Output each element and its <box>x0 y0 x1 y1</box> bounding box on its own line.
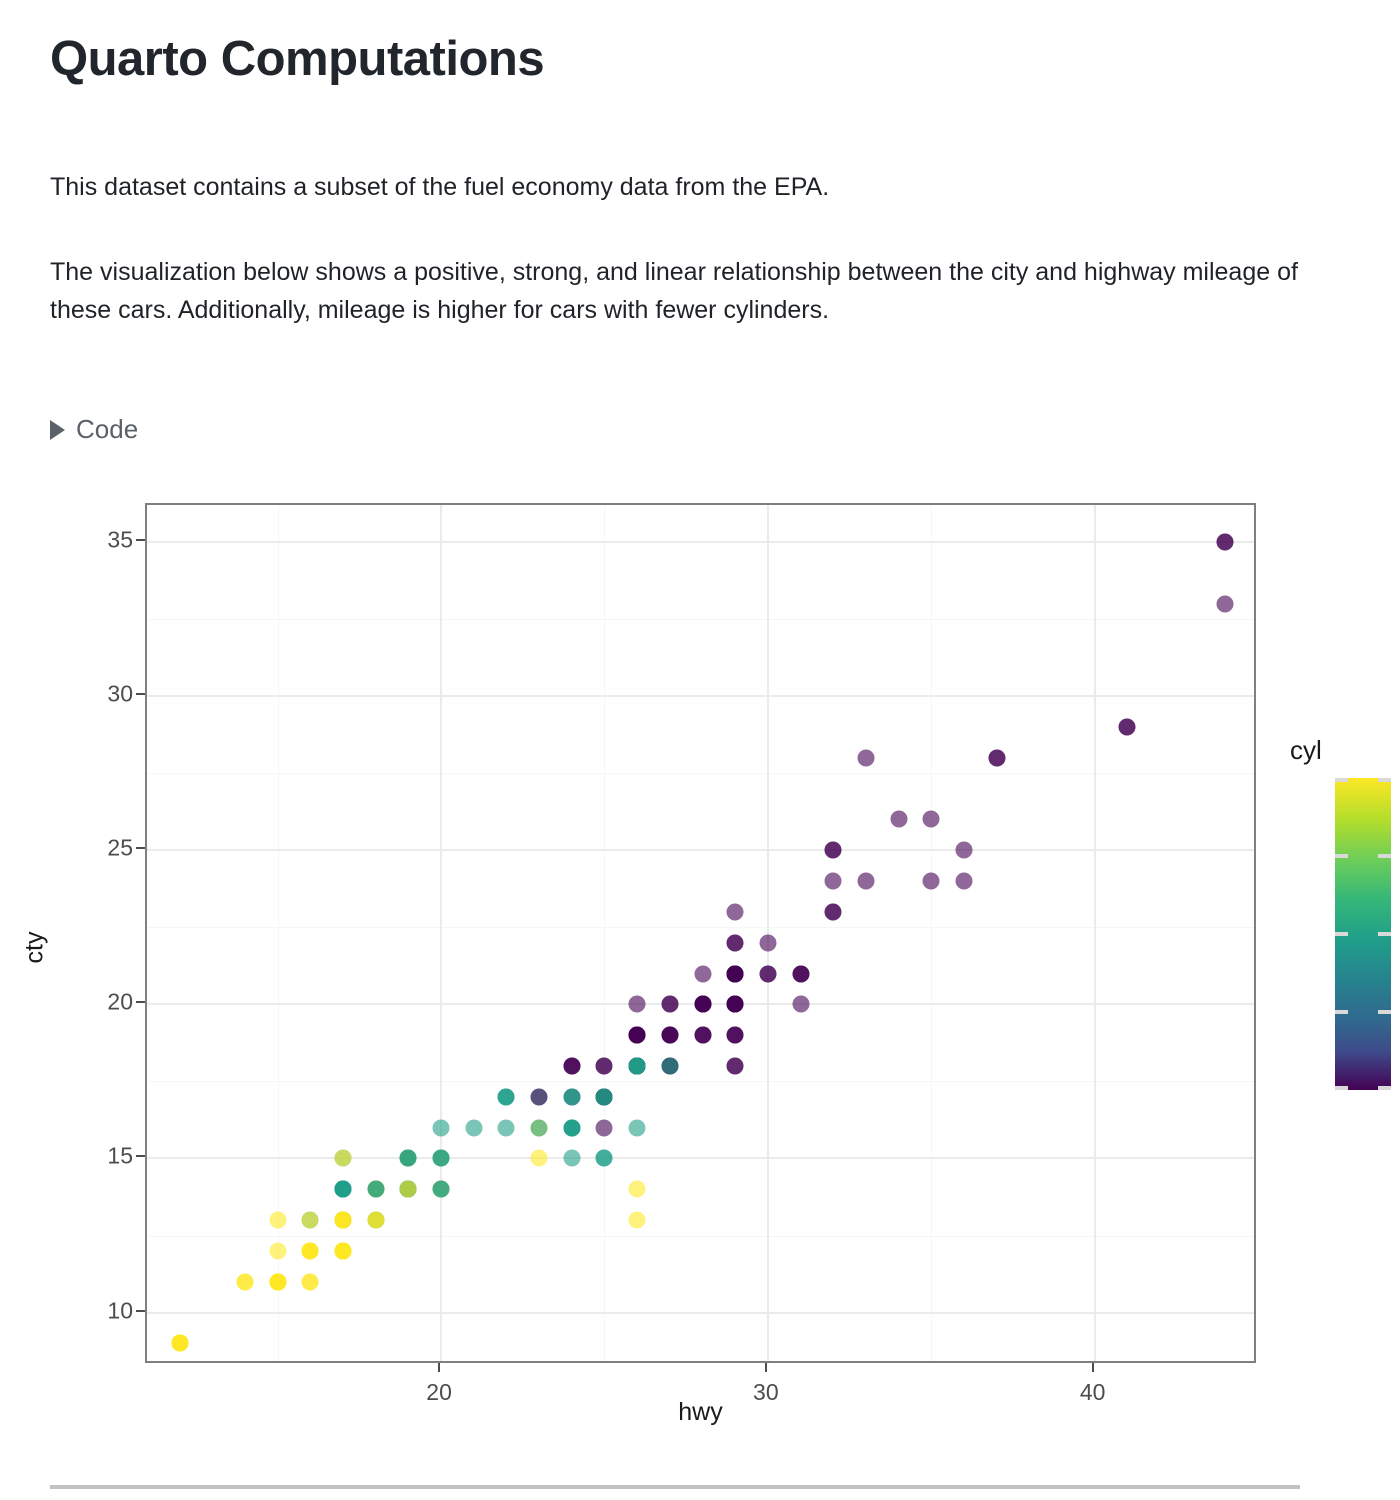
scatter-point <box>335 1212 352 1229</box>
scatter-point <box>400 1181 417 1198</box>
scatter-point <box>335 1242 352 1259</box>
scatter-point <box>563 1150 580 1167</box>
gridline-minor <box>147 619 1254 620</box>
y-axis-tick-label: 10 <box>73 1297 133 1324</box>
scatter-point <box>563 1058 580 1075</box>
scatter-point <box>727 1027 744 1044</box>
scatter-point <box>661 1058 678 1075</box>
scatter-point <box>171 1335 188 1352</box>
legend-tick-mark <box>1378 1086 1391 1090</box>
y-axis-tick-label: 30 <box>73 681 133 708</box>
legend-tick-mark <box>1378 854 1391 858</box>
legend-tick-mark <box>1335 1086 1348 1090</box>
scatter-plot-figure: 101520253035203040 hwy cty cyl <box>40 480 1370 1440</box>
scatter-point <box>302 1273 319 1290</box>
scatter-point <box>269 1212 286 1229</box>
gridline-major <box>440 505 442 1361</box>
scatter-point <box>727 903 744 920</box>
gridline-major <box>147 849 1254 851</box>
y-axis-tick-mark <box>136 693 145 695</box>
scatter-point <box>629 996 646 1013</box>
scatter-point <box>988 749 1005 766</box>
legend-tick-mark <box>1335 1010 1348 1014</box>
scatter-point <box>825 842 842 859</box>
scatter-point <box>661 1027 678 1044</box>
gridline-major <box>147 1312 1254 1314</box>
scatter-point <box>694 1027 711 1044</box>
gridline-major <box>1094 505 1096 1361</box>
gridline-minor <box>147 773 1254 774</box>
gridline-major <box>767 505 769 1361</box>
scatter-point <box>596 1058 613 1075</box>
scatter-point <box>335 1181 352 1198</box>
scatter-point <box>694 965 711 982</box>
scatter-point <box>596 1119 613 1136</box>
scatter-point <box>498 1119 515 1136</box>
scatter-point <box>335 1150 352 1167</box>
y-axis-title: cty <box>21 932 50 964</box>
scatter-point <box>857 873 874 890</box>
gridline-major <box>147 1157 1254 1159</box>
scatter-point <box>367 1212 384 1229</box>
scatter-point <box>792 965 809 982</box>
legend-tick-mark <box>1378 932 1391 936</box>
page-title: Quarto Computations <box>50 30 544 89</box>
scatter-point <box>498 1088 515 1105</box>
scatter-point <box>923 873 940 890</box>
y-axis-tick-label: 35 <box>73 526 133 553</box>
intro-paragraph: This dataset contains a subset of the fu… <box>50 168 1340 206</box>
legend-tick-mark <box>1335 778 1348 782</box>
scatter-point <box>563 1119 580 1136</box>
scatter-point <box>465 1119 482 1136</box>
scatter-point <box>531 1150 548 1167</box>
scatter-point <box>629 1212 646 1229</box>
description-paragraph: The visualization below shows a positive… <box>50 253 1340 329</box>
legend-tick-mark <box>1335 854 1348 858</box>
x-axis-tick-mark <box>438 1363 440 1372</box>
scatter-point <box>955 842 972 859</box>
scatter-point <box>727 965 744 982</box>
scatter-point <box>923 811 940 828</box>
scatter-point <box>759 965 776 982</box>
scatter-point <box>955 873 972 890</box>
scatter-point <box>531 1088 548 1105</box>
gridline-minor <box>931 505 932 1361</box>
scatter-point <box>400 1150 417 1167</box>
code-disclosure-label: Code <box>76 414 138 445</box>
scatter-point <box>694 996 711 1013</box>
scatter-point <box>825 903 842 920</box>
scatter-point <box>1217 533 1234 550</box>
legend-tick-mark <box>1335 932 1348 936</box>
y-axis-tick-label: 15 <box>73 1143 133 1170</box>
scatter-point <box>661 996 678 1013</box>
scatter-point <box>629 1119 646 1136</box>
gridline-minor <box>147 1081 1254 1082</box>
scatter-point <box>367 1181 384 1198</box>
scatter-point <box>629 1027 646 1044</box>
scatter-point <box>237 1273 254 1290</box>
y-axis-tick-mark <box>136 847 145 849</box>
scatter-point <box>727 934 744 951</box>
legend-tick-mark <box>1378 778 1391 782</box>
y-axis-tick-mark <box>136 1001 145 1003</box>
scatter-point <box>563 1088 580 1105</box>
scatter-point <box>1119 718 1136 735</box>
gridline-major <box>147 695 1254 697</box>
scatter-point <box>1217 595 1234 612</box>
scatter-point <box>596 1150 613 1167</box>
scatter-point <box>433 1119 450 1136</box>
gridline-minor <box>147 1236 1254 1237</box>
scatter-point <box>531 1119 548 1136</box>
y-axis-tick-mark <box>136 1155 145 1157</box>
scatter-point <box>302 1212 319 1229</box>
legend-title: cyl <box>1290 735 1322 766</box>
scatter-point <box>433 1181 450 1198</box>
x-axis-tick-mark <box>765 1363 767 1372</box>
y-axis-tick-mark <box>136 1310 145 1312</box>
x-axis-tick-mark <box>1092 1363 1094 1372</box>
scatter-point <box>825 873 842 890</box>
scatter-point <box>269 1273 286 1290</box>
scatter-point <box>629 1181 646 1198</box>
scatter-point <box>433 1150 450 1167</box>
gridline-minor <box>278 505 279 1361</box>
footer-divider <box>50 1485 1300 1489</box>
scatter-point <box>596 1088 613 1105</box>
scatter-point <box>727 996 744 1013</box>
document-page: Quarto Computations This dataset contain… <box>0 0 1400 1500</box>
x-axis-title: hwy <box>145 1398 1256 1427</box>
scatter-point <box>759 934 776 951</box>
scatter-point <box>269 1242 286 1259</box>
y-axis-tick-label: 20 <box>73 989 133 1016</box>
plot-panel <box>145 503 1256 1363</box>
scatter-point <box>792 996 809 1013</box>
scatter-point <box>302 1242 319 1259</box>
gridline-minor <box>604 505 605 1361</box>
scatter-point <box>890 811 907 828</box>
code-disclosure-toggle[interactable]: Code <box>50 414 138 445</box>
scatter-point <box>629 1058 646 1075</box>
scatter-point <box>727 1058 744 1075</box>
y-axis-tick-mark <box>136 539 145 541</box>
gridline-minor <box>147 927 1254 928</box>
triangle-right-icon <box>50 420 65 440</box>
legend-tick-mark <box>1378 1010 1391 1014</box>
y-axis-tick-label: 25 <box>73 835 133 862</box>
scatter-point <box>857 749 874 766</box>
gridline-major <box>147 541 1254 543</box>
